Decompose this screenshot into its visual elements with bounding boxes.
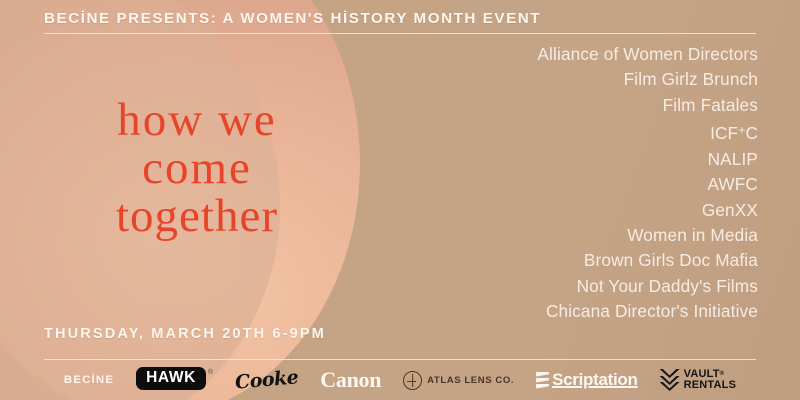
list-item: Brown Girls Doc Mafia — [338, 248, 758, 273]
header-divider — [44, 33, 756, 34]
organization-list: Alliance of Women Directors Film Girlz B… — [338, 42, 758, 325]
registered-trademark-icon: ® — [208, 369, 213, 376]
hawk-wordmark: HAWK — [136, 367, 206, 390]
event-date-time: THURSDAY, MARCH 20TH 6-9PM — [44, 326, 326, 342]
vault-line-2: RENTALS — [684, 380, 737, 391]
sponsor-bar: BECİNE HAWK ® Cooke Canon ATLAS LENS CO.… — [0, 360, 800, 400]
sponsor-logo-canon: Canon — [320, 367, 381, 393]
sponsor-logo-vault-rentals: VAULT® RENTALS — [660, 367, 737, 393]
event-poster: BECİNE PRESENTS: A WOMEN'S HİSTORY MONTH… — [0, 0, 800, 400]
cooke-wordmark: Cooke — [234, 366, 299, 393]
main-title-line-3: together — [32, 192, 362, 240]
list-item: Film Girlz Brunch — [338, 67, 758, 92]
list-item: NALIP — [338, 147, 758, 172]
list-item: Chicana Director's Initiative — [338, 299, 758, 324]
vault-rentals-wordmark: VAULT® RENTALS — [684, 369, 737, 391]
registered-trademark-icon: ® — [720, 371, 725, 377]
poster-header: BECİNE PRESENTS: A WOMEN'S HİSTORY MONTH… — [44, 10, 756, 34]
atlas-circle-monogram-icon — [403, 371, 422, 390]
main-title-line-1: how we — [32, 96, 362, 144]
scriptation-rest: criptation — [563, 370, 637, 389]
list-item: ICF+C — [338, 118, 758, 147]
list-item-label: ICF — [710, 123, 738, 143]
list-item: GenXX — [338, 198, 758, 223]
list-item: AWFC — [338, 172, 758, 197]
becine-wordmark: BECİNE — [64, 374, 114, 386]
sponsor-logo-hawk: HAWK ® — [136, 367, 213, 393]
stacked-pages-icon — [536, 371, 549, 390]
list-item: Film Fatales — [338, 93, 758, 118]
chevron-stack-icon — [660, 369, 680, 391]
list-item: Alliance of Women Directors — [338, 42, 758, 67]
scriptation-wordmark: Scriptation — [552, 370, 638, 390]
main-title: how we come together — [32, 96, 362, 240]
header-title: BECİNE PRESENTS: A WOMEN'S HİSTORY MONTH… — [44, 10, 756, 27]
sponsor-logo-becine: BECİNE — [64, 367, 114, 393]
scriptation-initial: S — [552, 370, 563, 389]
sponsor-logo-cooke: Cooke — [235, 367, 298, 393]
sponsor-logo-atlas-lens-co: ATLAS LENS CO. — [403, 367, 514, 393]
main-title-line-2: come — [32, 144, 362, 192]
list-item: Not Your Daddy's Films — [338, 274, 758, 299]
canon-wordmark: Canon — [320, 367, 381, 393]
list-item: Women in Media — [338, 223, 758, 248]
atlas-wordmark: ATLAS LENS CO. — [427, 375, 514, 386]
list-item-label-tail: C — [745, 123, 758, 143]
sponsor-logo-scriptation: Scriptation — [536, 367, 638, 393]
